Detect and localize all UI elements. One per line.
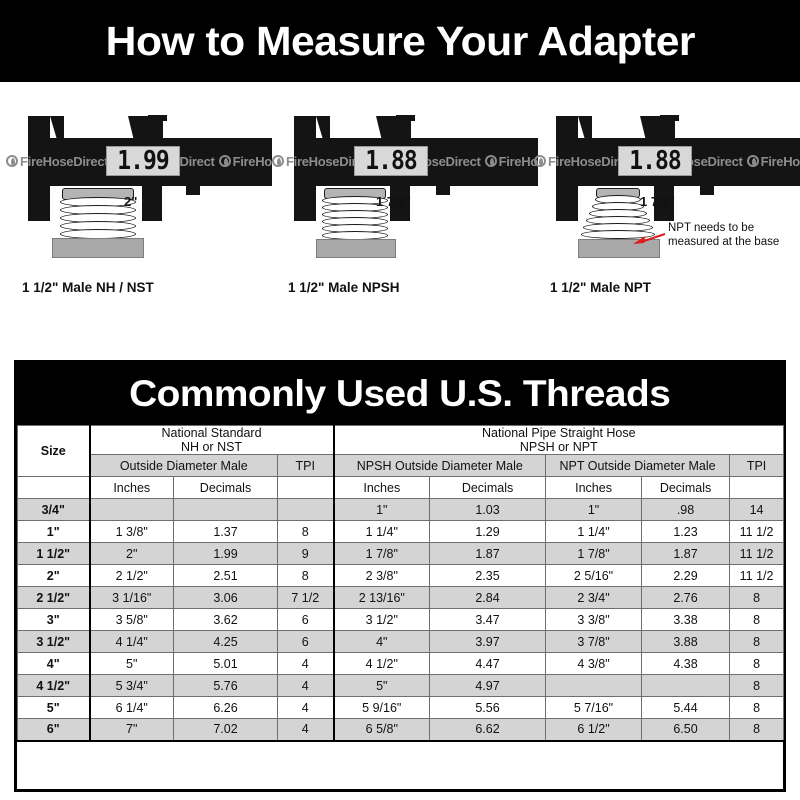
header-unit-nh-decimals: Decimals [174,477,278,499]
threads-table-section: Commonly Used U.S. Threads Size National… [14,360,786,792]
cell-npt-inches: 3 7/8" [546,631,642,653]
cell-npt-tpi: 8 [730,697,784,719]
caliper-lcd-display: 1.88 [618,146,692,176]
table-row: 5"6 1/4"6.2645 9/16"5.565 7/16"5.448 [18,697,784,719]
cell-size: 2" [18,565,90,587]
cell-npt-decimals: 2.29 [642,565,730,587]
fitting-base [52,238,144,258]
cell-npt-inches: 2 5/16" [546,565,642,587]
diagram-npt: FireHoseDirect FireHoseDirect FireHoseDi… [534,82,800,360]
cell-nh-tpi: 4 [278,697,334,719]
table-row: 1"1 3/8"1.3781 1/4"1.291 1/4"1.2311 1/2 [18,521,784,543]
caliper-lcd-display: 1.88 [354,146,428,176]
cell-npt-decimals: .98 [642,499,730,521]
measurement-label: 2" [124,194,137,209]
cell-npsh-inches: 1" [334,499,430,521]
cell-npt-decimals: 2.76 [642,587,730,609]
threads-table: Size National Standard NH or NST Nationa… [17,425,784,742]
cell-npsh-inches: 6 5/8" [334,719,430,741]
cell-npt-decimals: 4.38 [642,653,730,675]
cell-npsh-decimals: 1.29 [430,521,546,543]
cell-npsh-decimals: 5.56 [430,697,546,719]
diagram-nh-nst: FireHoseDirect FireHoseDirect FireHoseDi… [6,82,272,360]
cell-size: 1" [18,521,90,543]
table-row: 1 1/2"2"1.9991 7/8"1.871 7/8"1.8711 1/2 [18,543,784,565]
cell-nh-inches: 2 1/2" [90,565,174,587]
cell-nh-decimals: 3.62 [174,609,278,631]
flame-icon [534,155,546,167]
cell-npt-tpi: 8 [730,719,784,741]
cell-npt-decimals: 5.44 [642,697,730,719]
infographic-page: How to Measure Your Adapter FireHoseDire… [0,0,800,800]
cell-nh-tpi: 4 [278,653,334,675]
table-group-header-row: Size National Standard NH or NST Nationa… [18,426,784,455]
caliper-nub [436,186,450,195]
cell-nh-inches: 6 1/4" [90,697,174,719]
caliper-fixed-jaw [556,116,578,221]
cell-size: 5" [18,697,90,719]
cell-npt-tpi: 11 1/2 [730,521,784,543]
cell-nh-inches: 2" [90,543,174,565]
cell-size: 4 1/2" [18,675,90,697]
cell-npt-tpi: 8 [730,653,784,675]
cell-size: 1 1/2" [18,543,90,565]
table-body: 3/4"1"1.031".98141"1 3/8"1.3781 1/4"1.29… [18,499,784,741]
figure-caption: 1 1/2" Male NH / NST [22,280,154,295]
cell-npt-decimals: 3.88 [642,631,730,653]
cell-npt-tpi: 11 1/2 [730,543,784,565]
cell-npsh-inches: 1 7/8" [334,543,430,565]
cell-npt-tpi: 14 [730,499,784,521]
cell-npt-tpi: 11 1/2 [730,565,784,587]
caliper-lcd-display: 1.99 [106,146,180,176]
cell-nh-decimals: 6.26 [174,697,278,719]
cell-npt-inches: 1" [546,499,642,521]
cell-nh-tpi: 6 [278,609,334,631]
cell-nh-tpi [278,499,334,521]
cell-nh-inches [90,499,174,521]
cell-npsh-decimals: 4.97 [430,675,546,697]
header-unit-npsh-decimals: Decimals [430,477,546,499]
header-nh-tpi: TPI [278,455,334,477]
cell-size: 3" [18,609,90,631]
caliper-illustration: FireHoseDirect FireHoseDirect FireHoseDi… [6,106,272,251]
measurement-label: 1 7/8" [640,194,675,209]
caliper-reading: 1.88 [365,148,416,174]
caliper-thumb-screw [152,120,163,140]
header-unit-npt-inches: Inches [546,477,642,499]
cell-npt-decimals: 6.50 [642,719,730,741]
cell-npsh-decimals: 3.47 [430,609,546,631]
caliper-illustration: FireHoseDirect FireHoseDirect FireHoseDi… [534,106,800,251]
table-row: 3/4"1"1.031".9814 [18,499,784,521]
table-title: Commonly Used U.S. Threads [129,373,670,415]
table-row: 3"3 5/8"3.6263 1/2"3.473 3/8"3.388 [18,609,784,631]
cell-npsh-decimals: 2.84 [430,587,546,609]
cell-npt-decimals [642,675,730,697]
cell-npt-decimals: 3.38 [642,609,730,631]
fitting-base [316,239,396,258]
cell-size: 6" [18,719,90,741]
cell-npsh-inches: 2 13/16" [334,587,430,609]
table-row: 2"2 1/2"2.5182 3/8"2.352 5/16"2.2911 1/2 [18,565,784,587]
cell-npt-inches: 2 3/4" [546,587,642,609]
cell-npsh-inches: 5" [334,675,430,697]
header-ps-line2: NPSH or NPT [335,440,784,454]
header-npt-tpi: TPI [730,455,784,477]
npt-note-line1: NPT needs to be [668,221,779,235]
caliper-fixed-jaw [294,116,316,221]
header-ns-line1: National Standard [91,426,333,440]
caliper-illustration: FireHoseDirect FireHoseDirect FireHoseDi… [272,106,538,251]
header-npsh-od: NPSH Outside Diameter Male [334,455,546,477]
diagram-band: FireHoseDirect FireHoseDirect FireHoseDi… [0,82,800,360]
header-nh-od: Outside Diameter Male [90,455,278,477]
cell-nh-inches: 5" [90,653,174,675]
cell-nh-decimals: 4.25 [174,631,278,653]
header-unit-npsh-inches: Inches [334,477,430,499]
cell-nh-decimals: 5.76 [174,675,278,697]
cell-nh-decimals [174,499,278,521]
cell-npsh-decimals: 3.97 [430,631,546,653]
cell-npsh-decimals: 4.47 [430,653,546,675]
table-sub-header-row: Outside Diameter Male TPI NPSH Outside D… [18,455,784,477]
cell-size: 3 1/2" [18,631,90,653]
table-row: 2 1/2"3 1/16"3.067 1/22 13/16"2.842 3/4"… [18,587,784,609]
table-row: 6"7"7.0246 5/8"6.626 1/2"6.508 [18,719,784,741]
header-unit-nh-inches: Inches [90,477,174,499]
table-title-banner: Commonly Used U.S. Threads [17,363,783,425]
red-arrow-icon [632,230,666,246]
cell-nh-tpi: 4 [278,719,334,741]
cell-npsh-decimals: 1.87 [430,543,546,565]
cell-npt-tpi: 8 [730,587,784,609]
cell-npsh-inches: 4 1/2" [334,653,430,675]
cell-npsh-inches: 1 1/4" [334,521,430,543]
cell-npt-inches: 1 7/8" [546,543,642,565]
header-national-standard: National Standard NH or NST [90,426,334,455]
header-size: Size [18,426,90,477]
cell-nh-tpi: 8 [278,521,334,543]
caliper-thumb-screw [664,120,675,140]
cell-nh-tpi: 9 [278,543,334,565]
cell-npt-inches [546,675,642,697]
cell-size: 4" [18,653,90,675]
header-npt-od: NPT Outside Diameter Male [546,455,730,477]
cell-nh-decimals: 5.01 [174,653,278,675]
cell-nh-tpi: 6 [278,631,334,653]
cell-npt-inches: 1 1/4" [546,521,642,543]
npt-note-line2: measured at the base [668,235,779,249]
cell-nh-decimals: 1.99 [174,543,278,565]
cell-npsh-decimals: 2.35 [430,565,546,587]
cell-npt-inches: 5 7/16" [546,697,642,719]
flame-icon [6,155,18,167]
cell-npt-decimals: 1.87 [642,543,730,565]
cell-nh-tpi: 4 [278,675,334,697]
cell-npt-inches: 6 1/2" [546,719,642,741]
cell-npsh-inches: 4" [334,631,430,653]
header-pipe-straight: National Pipe Straight Hose NPSH or NPT [334,426,784,455]
cell-nh-decimals: 7.02 [174,719,278,741]
flame-icon [272,155,284,167]
figure-caption: 1 1/2" Male NPSH [288,280,399,295]
table-row: 3 1/2"4 1/4"4.2564"3.973 7/8"3.888 [18,631,784,653]
table-unit-header-row: Inches Decimals Inches Decimals Inches D… [18,477,784,499]
caliper-reading: 1.88 [629,148,680,174]
header-unit-blank-size [18,477,90,499]
page-title: How to Measure Your Adapter [105,18,694,65]
header-unit-npt-decimals: Decimals [642,477,730,499]
cell-nh-inches: 5 3/4" [90,675,174,697]
cell-nh-inches: 3 1/16" [90,587,174,609]
diagram-npsh: FireHoseDirect FireHoseDirect FireHoseDi… [272,82,538,360]
cell-nh-tpi: 8 [278,565,334,587]
caliper-fixed-jaw [28,116,50,221]
table-row: 4"5"5.0144 1/2"4.474 3/8"4.388 [18,653,784,675]
cell-npt-tpi: 8 [730,609,784,631]
cell-npsh-decimals: 6.62 [430,719,546,741]
npt-note: NPT needs to be measured at the base [668,221,779,250]
cell-npt-decimals: 1.23 [642,521,730,543]
cell-nh-inches: 4 1/4" [90,631,174,653]
measurement-label: 1 7/8" [376,194,411,209]
cell-nh-inches: 1 3/8" [90,521,174,543]
cell-nh-inches: 7" [90,719,174,741]
figure-caption: 1 1/2" Male NPT [550,280,651,295]
caliper-nub [700,186,714,195]
cell-nh-decimals: 2.51 [174,565,278,587]
cell-nh-decimals: 1.37 [174,521,278,543]
page-title-banner: How to Measure Your Adapter [0,0,800,82]
cell-npsh-inches: 3 1/2" [334,609,430,631]
header-unit-blank-nhtpi [278,477,334,499]
cell-npt-tpi: 8 [730,675,784,697]
caliper-reading: 1.99 [117,148,168,174]
cell-size: 3/4" [18,499,90,521]
caliper-nub [186,186,200,195]
cell-npsh-inches: 5 9/16" [334,697,430,719]
cell-npsh-inches: 2 3/8" [334,565,430,587]
cell-nh-decimals: 3.06 [174,587,278,609]
cell-npt-inches: 3 3/8" [546,609,642,631]
cell-npt-tpi: 8 [730,631,784,653]
cell-npt-inches: 4 3/8" [546,653,642,675]
cell-size: 2 1/2" [18,587,90,609]
caliper-thumb-screw [400,120,411,140]
table-row: 4 1/2"5 3/4"5.7645"4.978 [18,675,784,697]
cell-nh-inches: 3 5/8" [90,609,174,631]
cell-nh-tpi: 7 1/2 [278,587,334,609]
cell-npsh-decimals: 1.03 [430,499,546,521]
header-ns-line2: NH or NST [91,440,333,454]
header-unit-blank-npttpi [730,477,784,499]
header-ps-line1: National Pipe Straight Hose [335,426,784,440]
